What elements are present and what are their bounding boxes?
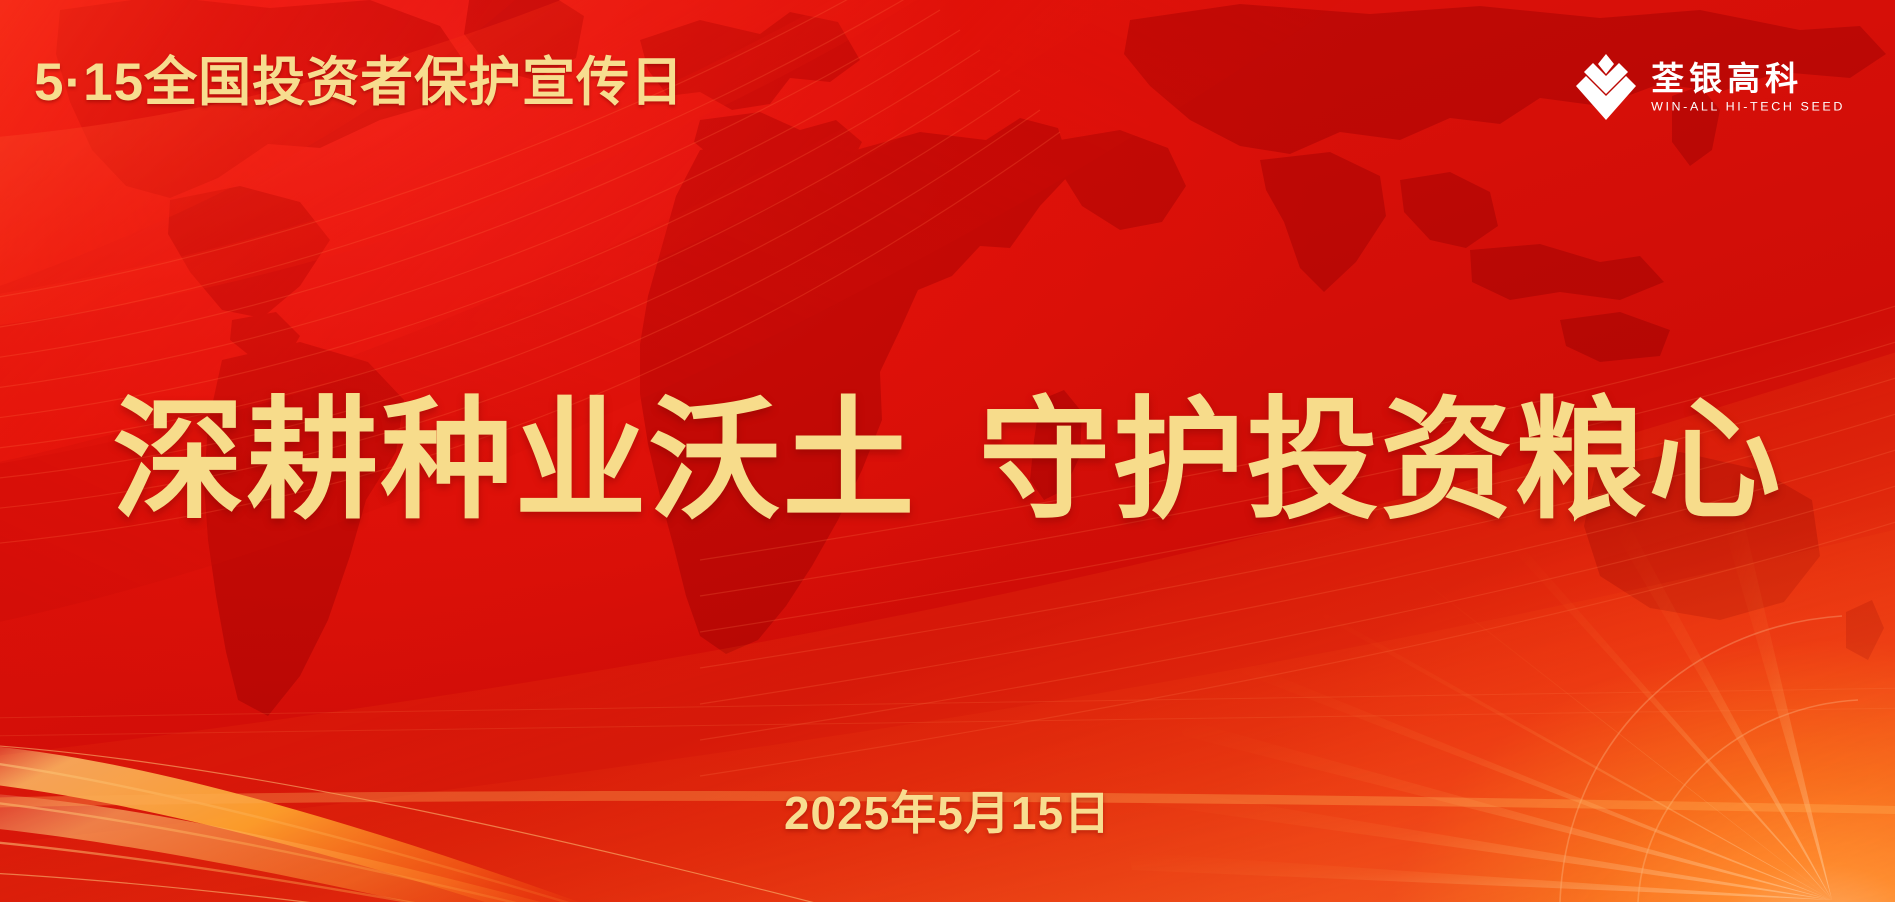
brand-name-en: WIN-ALL HI-TECH SEED <box>1651 100 1845 114</box>
event-title: 5·15全国投资者保护宣传日 <box>34 56 684 109</box>
headline-part-1: 深耕种业沃土 <box>113 387 917 534</box>
banner-content: 5·15全国投资者保护宣传日 荃银高科 WIN-ALL HI-TECH SEED… <box>0 0 1895 902</box>
headline-part-2: 守护投资粮心 <box>979 387 1783 534</box>
event-date: 2025年5月15日 <box>0 790 1895 836</box>
promo-banner: 5·15全国投资者保护宣传日 荃银高科 WIN-ALL HI-TECH SEED… <box>0 0 1895 902</box>
headline-slogan: 深耕种业沃土守护投资粮心 <box>0 395 1895 527</box>
company-logo: 荃银高科 WIN-ALL HI-TECH SEED <box>1575 52 1845 124</box>
brand-name-cn: 荃银高科 <box>1651 61 1803 97</box>
winall-chevron-logo-icon <box>1575 52 1637 124</box>
brand-text-block: 荃银高科 WIN-ALL HI-TECH SEED <box>1651 61 1845 115</box>
